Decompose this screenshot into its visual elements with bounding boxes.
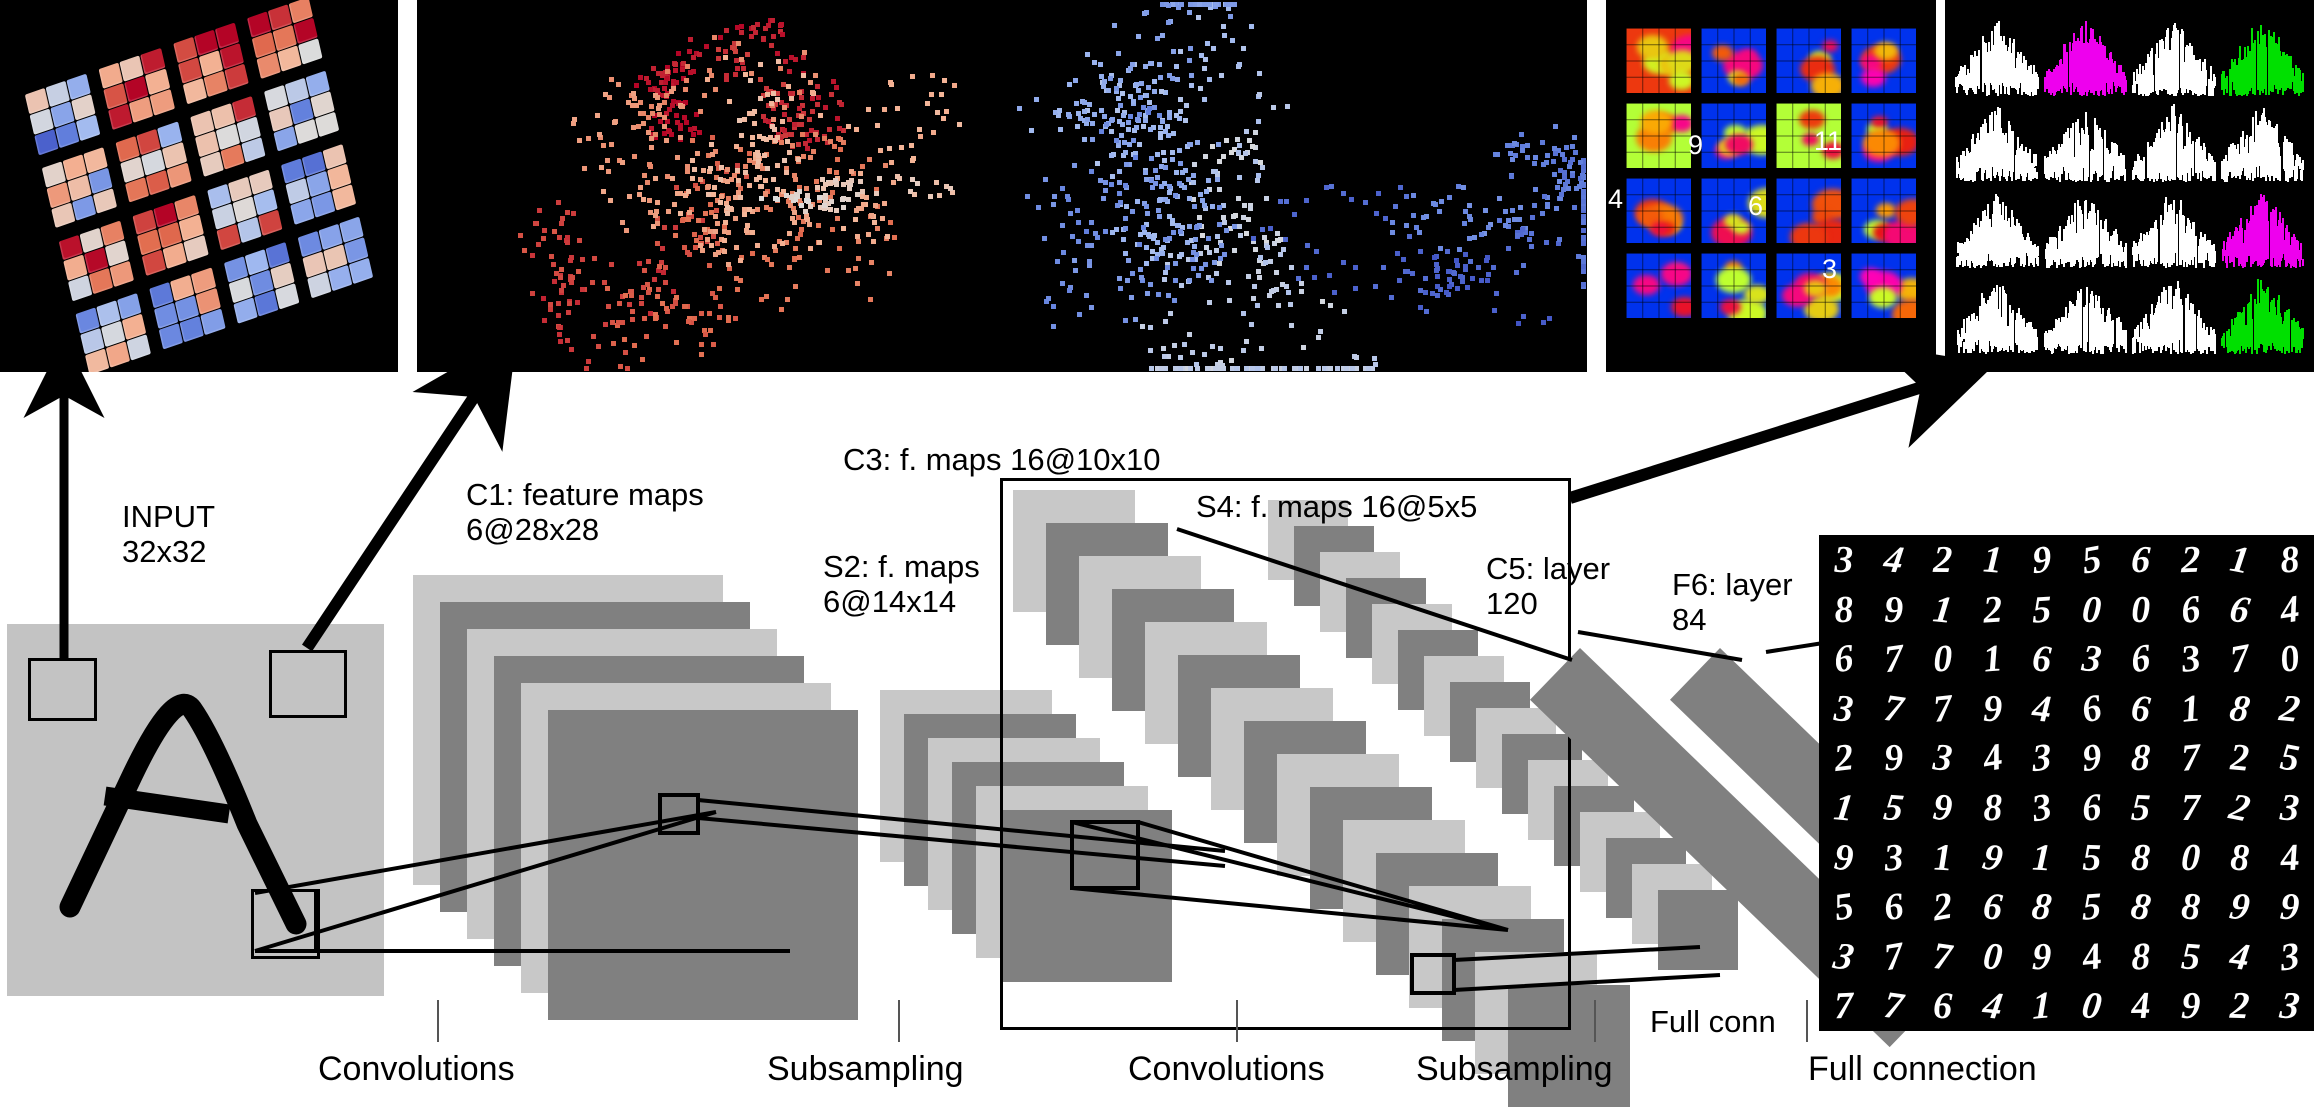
cloud-point	[1251, 236, 1256, 241]
surface-bar	[2073, 33, 2075, 82]
cloud-point	[759, 297, 764, 302]
cloud-point	[1545, 153, 1550, 158]
cloud-point	[1060, 186, 1065, 191]
cloud-point	[558, 275, 563, 280]
mnist-digit: 4	[2114, 981, 2167, 1031]
cloud-point	[1189, 73, 1194, 78]
cloud-point	[895, 106, 900, 111]
cloud-point	[680, 104, 685, 109]
cloud-point	[685, 64, 690, 69]
cloud-point	[1581, 228, 1586, 233]
cloud-point	[1214, 271, 1219, 276]
cloud-point	[735, 66, 740, 71]
cloud-point	[1109, 182, 1114, 187]
cloud-point	[1517, 217, 1522, 222]
mnist-digit: 6	[1966, 880, 2019, 934]
surface-bar	[1977, 236, 1979, 266]
mnist-digit: 3	[1867, 831, 1920, 884]
cloud-point	[1158, 75, 1163, 80]
cloud-point	[611, 341, 616, 346]
cloud-point	[895, 174, 900, 179]
cloud-point	[944, 109, 949, 114]
cloud-point	[1289, 265, 1294, 270]
mnist-digit: 2	[1819, 731, 1871, 786]
cloud-point	[1304, 198, 1309, 203]
cloud-point	[1017, 106, 1022, 111]
cloud-point	[1570, 157, 1575, 162]
cloud-point	[1410, 271, 1415, 276]
surface-bar	[2299, 70, 2301, 82]
cloud-point	[1131, 138, 1136, 143]
cloud-point	[1509, 174, 1514, 179]
surface-bar	[2009, 233, 2011, 256]
cloud-point	[910, 158, 915, 163]
surface-bar	[2260, 126, 2262, 171]
cloud-point	[706, 184, 711, 189]
cloud-point	[1144, 204, 1149, 209]
cloud-point	[755, 207, 760, 212]
cloud-point	[669, 89, 674, 94]
cloud-point	[806, 199, 811, 204]
cloud-point	[739, 57, 744, 62]
surface-bar	[2300, 82, 2302, 91]
surface-bar	[2185, 233, 2187, 262]
surface-bar	[2034, 168, 2036, 178]
mnist-output-panel: 3421956218891250066467016363703779466182…	[1819, 535, 2314, 1031]
mnist-digit: 7	[1866, 680, 1921, 736]
mnist-row: 3770948543	[1819, 932, 2314, 982]
surface-bar	[2095, 295, 2097, 342]
cloud-point	[787, 265, 792, 270]
mnist-digit: 5	[2115, 782, 2167, 833]
mnist-digit: 3	[2162, 632, 2219, 686]
cloud-point	[690, 158, 695, 163]
cloud-point	[1187, 10, 1192, 15]
surface-bar	[2120, 245, 2122, 262]
cloud-point	[801, 55, 806, 60]
cloud-point	[639, 301, 644, 306]
heatmap-label-9: 9	[1688, 132, 1703, 159]
cloud-point	[1514, 270, 1519, 275]
cloud-point	[747, 158, 752, 163]
cloud-point	[808, 155, 813, 160]
cloud-point	[1190, 350, 1195, 355]
mnist-digit: 5	[2017, 583, 2067, 636]
surface-bar	[2013, 56, 2015, 84]
cloud-point	[1476, 265, 1481, 270]
surface-bar	[2136, 246, 2138, 261]
cloud-point	[1178, 97, 1183, 102]
cloud-point	[769, 43, 774, 48]
cloud-point	[1206, 236, 1211, 241]
cloud-point	[645, 180, 650, 185]
cloud-point	[687, 210, 692, 215]
cloud-point	[1257, 275, 1262, 280]
cloud-point	[691, 69, 696, 74]
cloud-point	[671, 289, 676, 294]
cloud-point	[743, 72, 748, 77]
surface-bar	[2182, 43, 2184, 94]
cloud-point	[684, 120, 689, 125]
cloud-point	[1533, 187, 1538, 192]
cloud-point	[1137, 142, 1142, 147]
surface-bar	[2242, 243, 2244, 268]
cloud-point	[793, 57, 798, 62]
surface-bar	[2148, 147, 2150, 170]
mnist-digit: 5	[1865, 781, 1921, 834]
cloud-point	[1085, 243, 1090, 248]
surface-bar	[2177, 300, 2179, 348]
cloud-point	[773, 138, 778, 143]
surface-bar	[1989, 227, 1991, 261]
surface-bar	[2197, 62, 2199, 88]
surface-bar	[2301, 163, 2303, 175]
cloud-point	[601, 143, 606, 148]
cloud-point	[1401, 257, 1406, 262]
cloud-point	[1246, 274, 1251, 279]
cloud-point	[931, 130, 936, 135]
surface-bar	[1956, 168, 1958, 178]
cloud-point	[1161, 346, 1166, 351]
cloud-point	[1089, 220, 1094, 225]
cloud-point	[636, 124, 641, 129]
cloud-point	[1103, 180, 1108, 185]
cloud-point	[934, 180, 939, 185]
cloud-point	[1191, 250, 1196, 255]
cloud-point	[632, 96, 637, 101]
input-receptive-field-top-left	[28, 658, 97, 721]
cloud-point	[827, 127, 832, 132]
cloud-point	[627, 194, 632, 199]
surface-bar	[2093, 150, 2095, 174]
cloud-point	[713, 295, 718, 300]
cloud-point	[835, 157, 840, 162]
cloud-point	[1519, 132, 1524, 137]
cloud-point	[929, 92, 934, 97]
cloud-point	[855, 192, 860, 197]
surface-bar	[2230, 84, 2232, 95]
cloud-point	[1418, 249, 1423, 254]
cloud-point	[648, 87, 653, 92]
mnist-digit: 8	[2115, 832, 2166, 883]
surface-bar	[2223, 241, 2225, 253]
cloud-point	[620, 220, 625, 225]
mnist-digit: 3	[2262, 927, 2314, 985]
cloud-point	[1525, 155, 1530, 160]
cloud-point	[1581, 206, 1586, 211]
cloud-point	[775, 163, 780, 168]
cloud-point	[1087, 102, 1092, 107]
cloud-point	[1051, 304, 1056, 309]
surface-bar	[2066, 58, 2068, 91]
cloud-point	[707, 311, 712, 316]
surface-bar	[2132, 170, 2134, 180]
cloud-point	[747, 183, 752, 188]
surface-bar	[2105, 322, 2107, 346]
cloud-point	[1124, 162, 1129, 167]
cloud-point	[1249, 24, 1254, 29]
cloud-point	[1156, 292, 1161, 297]
cloud-point	[846, 197, 851, 202]
surface-bar	[2281, 235, 2283, 254]
cloud-point	[1210, 344, 1215, 349]
cloud-point	[764, 86, 769, 91]
surface-bar	[2302, 73, 2304, 83]
cloud-point	[661, 270, 666, 275]
cloud-point	[557, 332, 562, 337]
cloud-point	[1503, 223, 1508, 228]
mnist-digit: 9	[1963, 828, 2021, 886]
surface-bar	[1974, 240, 1976, 268]
cloud-point	[810, 96, 815, 101]
cloud-point	[723, 55, 728, 60]
cloud-point	[711, 234, 716, 239]
cloud-point	[1211, 46, 1216, 51]
cloud-point	[1177, 181, 1182, 186]
cloud-point	[796, 142, 801, 147]
cloud-point	[952, 83, 957, 88]
cloud-point	[696, 218, 701, 223]
surface-bar	[1966, 238, 1968, 261]
cloud-point	[657, 112, 662, 117]
mnist-digit: 3	[2016, 730, 2068, 786]
surface-bar	[2235, 162, 2237, 177]
label-c1: C1: feature maps 6@28x28	[466, 478, 704, 547]
surface-bar	[2240, 222, 2242, 258]
surface-bar	[2116, 234, 2118, 255]
cloud-point	[771, 91, 776, 96]
cloud-point	[1513, 153, 1518, 158]
label-c3: C3: f. maps 16@10x10	[843, 443, 1161, 478]
surface-bar	[1994, 292, 1996, 338]
cloud-point	[1174, 170, 1179, 175]
heatmap-cell	[1626, 103, 1691, 168]
cloud-point	[815, 185, 820, 190]
cloud-point	[1036, 205, 1041, 210]
cloud-point	[1260, 227, 1265, 232]
surface-bar	[2167, 125, 2169, 177]
cloud-point	[858, 179, 863, 184]
cloud-point	[565, 338, 570, 343]
cloud-point	[649, 145, 654, 150]
cloud-point	[1163, 237, 1168, 242]
cloud-point	[1342, 309, 1347, 314]
cloud-point	[705, 237, 710, 242]
mnist-digit: 1	[2017, 979, 2067, 1031]
cloud-point	[606, 304, 611, 309]
cloud-point	[1232, 224, 1237, 229]
cloud-point	[918, 134, 923, 139]
cloud-point	[786, 84, 791, 89]
cloud-point	[839, 102, 844, 107]
surface-bar	[2145, 79, 2147, 95]
cloud-point	[1485, 278, 1490, 283]
cloud-point	[775, 51, 780, 56]
surface-bar	[2160, 215, 2162, 253]
mnist-digit: 7	[1915, 681, 1970, 736]
surface-bar	[2023, 66, 2025, 89]
surface-bar	[2063, 48, 2065, 81]
cloud-point	[1123, 251, 1128, 256]
cloud-point	[530, 253, 535, 258]
surface-bar	[2156, 309, 2158, 350]
tick-conv-2	[1236, 1000, 1238, 1042]
cloud-point	[660, 246, 665, 251]
cloud-point	[684, 78, 689, 83]
cloud-point	[1116, 51, 1121, 56]
cloud-point	[1074, 101, 1079, 106]
cloud-point	[649, 104, 654, 109]
surface-bar	[2029, 159, 2031, 177]
cloud-point	[673, 301, 678, 306]
surface-bar	[2142, 67, 2144, 80]
mnist-digit: 7	[1866, 978, 1920, 1031]
cloud-point	[1200, 233, 1205, 238]
cloud-point	[673, 233, 678, 238]
surface-bar	[2191, 46, 2193, 80]
mnist-digit: 6	[2062, 681, 2120, 737]
surface-bar	[2081, 128, 2083, 179]
cloud-point	[868, 297, 873, 302]
cloud-point	[551, 262, 556, 267]
cloud-point	[799, 95, 804, 100]
cloud-point	[1123, 216, 1128, 221]
surface-bar	[1972, 331, 1974, 349]
surface-bar	[2143, 318, 2145, 343]
cloud-point	[1241, 46, 1246, 51]
cloud-point	[708, 328, 713, 333]
cloud-point	[1156, 208, 1161, 213]
cloud-point	[757, 175, 762, 180]
cloud-point	[713, 87, 718, 92]
surface-bar	[2175, 224, 2177, 253]
cloud-point	[1350, 366, 1355, 371]
cloud-point	[1219, 243, 1224, 248]
cloud-point	[1130, 271, 1135, 276]
cloud-point	[1269, 289, 1274, 294]
mnist-digit: 9	[1868, 583, 1918, 637]
cloud-point	[617, 301, 622, 306]
surface-bar	[2266, 207, 2268, 252]
cloud-point	[758, 96, 763, 101]
cloud-point	[1318, 329, 1323, 334]
cloud-point	[1255, 303, 1260, 308]
cloud-point	[1230, 38, 1235, 43]
cloud-point	[788, 203, 793, 208]
surface-bar	[2198, 151, 2200, 172]
cloud-point	[655, 241, 660, 246]
cloud-point	[735, 287, 740, 292]
heatmap-cell	[1626, 28, 1691, 93]
cloud-point	[738, 258, 743, 263]
cloud-point	[1178, 229, 1183, 234]
cloud-point	[789, 96, 794, 101]
cloud-point	[1467, 203, 1472, 208]
cloud-point	[1423, 276, 1428, 281]
cloud-point	[1138, 267, 1143, 272]
cloud-point	[825, 268, 830, 273]
cloud-point	[763, 178, 768, 183]
cloud-point	[641, 121, 646, 126]
mnist-digit: 4	[1963, 730, 2021, 787]
cloud-point	[1503, 209, 1508, 214]
mnist-digit: 2	[2165, 535, 2215, 585]
surface-bar	[2072, 133, 2074, 169]
surface-bar	[2165, 311, 2167, 348]
cloud-point	[1149, 366, 1154, 371]
cloud-point	[683, 304, 688, 309]
cloud-point	[680, 218, 685, 223]
cloud-point	[743, 164, 748, 169]
cloud-point	[1197, 215, 1202, 220]
heatmap-cell	[1776, 28, 1841, 93]
surface-bar	[2030, 330, 2032, 343]
mnist-digit: 5	[2067, 880, 2116, 933]
cloud-point	[626, 100, 631, 105]
cloud-point	[855, 281, 860, 286]
cloud-point	[1411, 193, 1416, 198]
cloud-point	[664, 138, 669, 143]
heatmap-gridlines	[1776, 178, 1841, 243]
surface-bar	[2247, 46, 2249, 84]
surface-bar	[2033, 248, 2035, 259]
mnist-digit: 4	[2062, 930, 2120, 984]
cloud-point	[1275, 231, 1280, 236]
surface-bar	[2302, 328, 2304, 339]
surface-bar	[2226, 242, 2228, 258]
mnist-digit: 6	[2163, 581, 2218, 639]
surface-bar	[2211, 249, 2213, 262]
cloud-point	[1115, 108, 1120, 113]
cloud-point	[590, 280, 595, 285]
surface-bar	[2124, 255, 2126, 266]
surface-bar	[2252, 142, 2254, 181]
cloud-point	[1084, 293, 1089, 298]
surface-bar	[2134, 161, 2136, 169]
surface-bar	[2028, 75, 2030, 93]
mnist-digit: 9	[2016, 931, 2067, 982]
cloud-point	[1558, 168, 1563, 173]
cloud-point	[1241, 348, 1246, 353]
surface-bar	[2023, 156, 2025, 177]
cloud-point	[627, 302, 632, 307]
cloud-point	[1136, 34, 1141, 39]
surface-bar	[2045, 159, 2047, 168]
surface-bar	[2092, 62, 2094, 93]
surface-bar	[2137, 154, 2139, 170]
cloud-point	[790, 216, 795, 221]
cloud-point	[1217, 187, 1222, 192]
mnist-digit: 0	[1965, 929, 2019, 984]
mnist-digit: 2	[1966, 583, 2019, 636]
cloud-point	[672, 202, 677, 207]
surface-bar	[2079, 206, 2081, 262]
cloud-point	[608, 198, 613, 203]
kernel-cubes-panel	[0, 0, 398, 372]
cloud-point	[759, 184, 764, 189]
cloud-point	[1366, 366, 1371, 371]
cloud-point	[537, 208, 542, 213]
cloud-point	[1196, 273, 1201, 278]
cloud-point	[1320, 299, 1325, 304]
cloud-point	[1184, 103, 1189, 108]
cloud-point	[758, 62, 763, 67]
cloud-point	[607, 95, 612, 100]
cloud-point	[1246, 217, 1251, 222]
cloud-point	[1512, 141, 1517, 146]
label-s2: S2: f. maps 6@14x14	[823, 550, 980, 619]
surface-bar	[2285, 157, 2287, 175]
